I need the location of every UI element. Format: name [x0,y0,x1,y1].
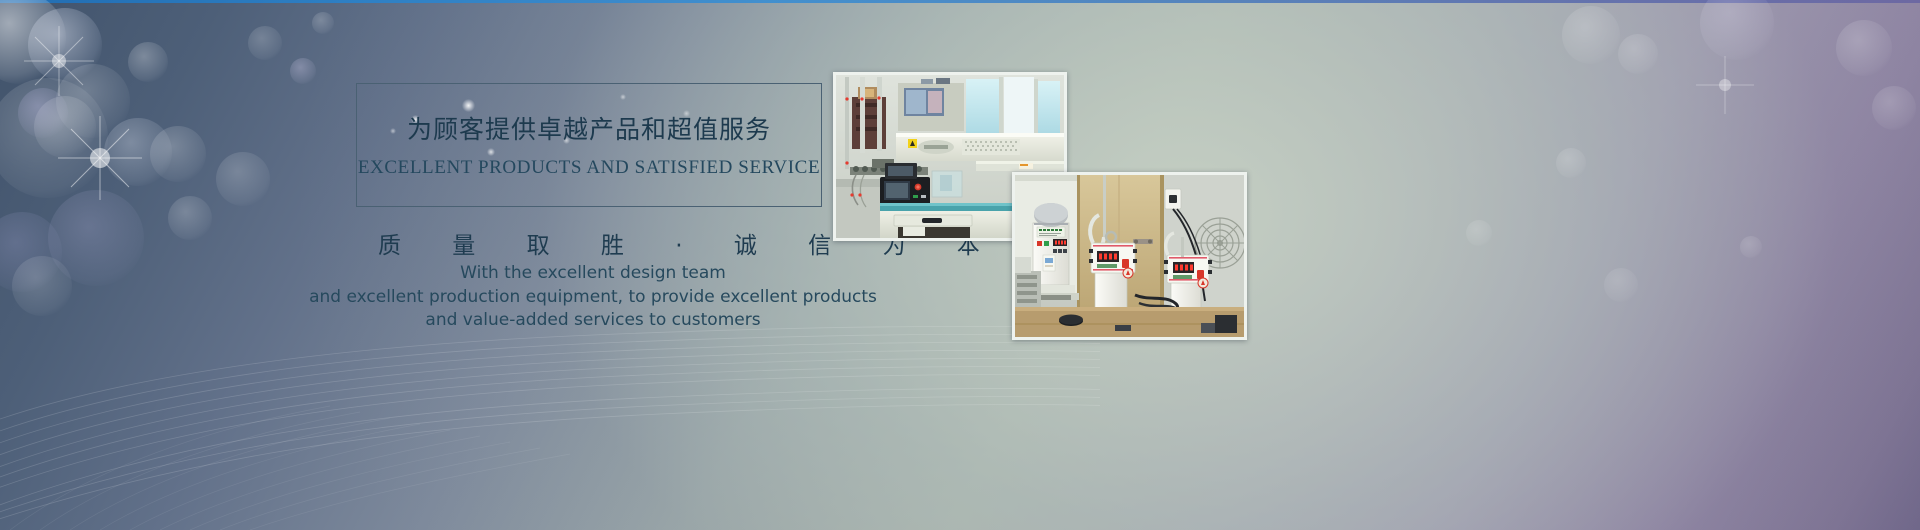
lens-flare [4,6,114,116]
headline-english: EXCELLENT PRODUCTS AND SATISFIED SERVICE [356,157,822,179]
description-line-1: With the excellent design team [296,262,890,286]
description-line-2: and excellent production equipment, to p… [296,286,890,310]
crimping-machines-image [1015,175,1244,337]
tagline-chinese: 质 量 取 胜 · 诚 信 为 本 [356,226,822,260]
description-paragraph: With the excellent design team and excel… [296,262,890,333]
description-line-3: and value-added services to customers [296,309,890,333]
lens-flare [1680,40,1770,130]
top-accent-line [0,0,1920,3]
promo-banner: 为顾客提供卓越产品和超值服务 EXCELLENT PRODUCTS AND SA… [0,0,1920,530]
headline-chinese: 为顾客提供卓越产品和超值服务 [356,110,822,146]
lens-flare [30,88,170,228]
crimping-machines-photo [1012,172,1247,340]
